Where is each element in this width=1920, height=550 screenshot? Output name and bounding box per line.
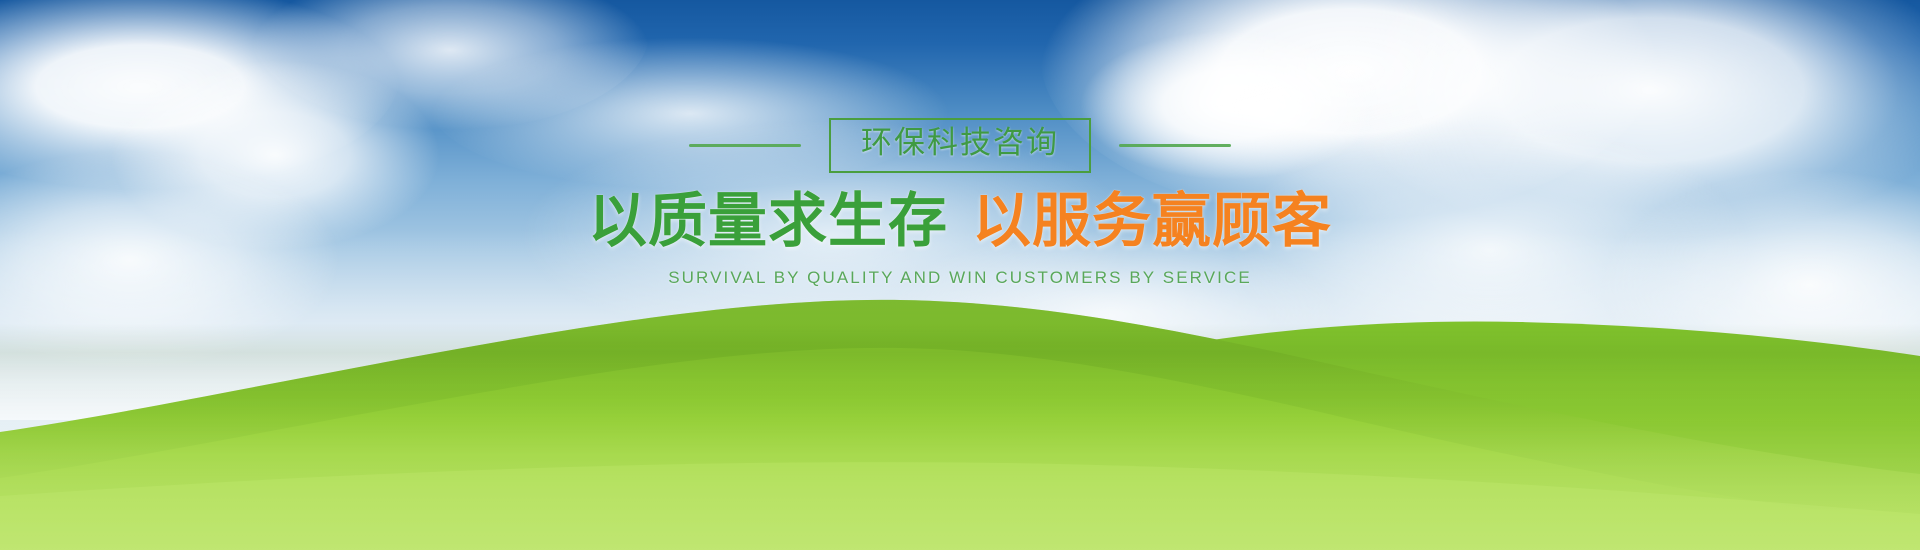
tagline-box: 环保科技咨询 bbox=[829, 118, 1091, 173]
headline: 以质量求生存 以服务赢顾客 bbox=[588, 191, 1332, 253]
headline-part-green: 以质量求生存 bbox=[588, 191, 948, 253]
eyebrow-row: 环保科技咨询 bbox=[689, 118, 1231, 173]
headline-part-orange: 以服务赢顾客 bbox=[972, 191, 1332, 253]
decorative-rule-right bbox=[1119, 144, 1231, 147]
decorative-rule-left bbox=[689, 144, 801, 147]
hero-banner: 环保科技咨询 以质量求生存 以服务赢顾客 SURVIVAL BY QUALITY… bbox=[0, 0, 1920, 550]
tagline-label: 环保科技咨询 bbox=[861, 127, 1059, 160]
grass-hills bbox=[0, 260, 1920, 550]
subheadline: SURVIVAL BY QUALITY AND WIN CUSTOMERS BY… bbox=[668, 268, 1252, 288]
banner-text-block: 环保科技咨询 以质量求生存 以服务赢顾客 SURVIVAL BY QUALITY… bbox=[0, 118, 1920, 288]
